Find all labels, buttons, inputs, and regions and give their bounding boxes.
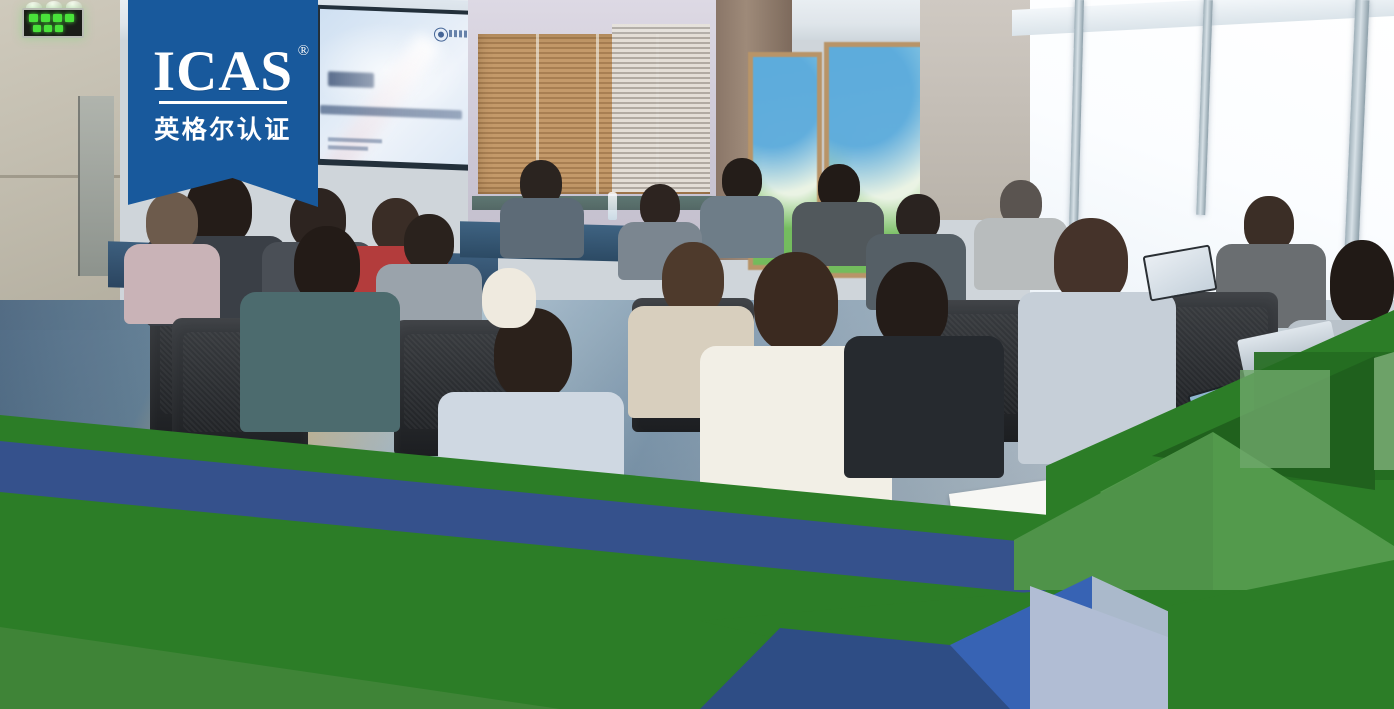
attendee-body bbox=[240, 292, 400, 432]
attendee-head bbox=[482, 268, 536, 328]
wooden-blinds-secondary bbox=[612, 24, 710, 192]
attendee-body bbox=[1018, 292, 1176, 464]
attendee-head bbox=[662, 242, 724, 316]
slide-subtitle-text bbox=[320, 105, 462, 119]
attendee-body bbox=[438, 392, 624, 544]
icas-chinese-name: 英格尔认证 bbox=[154, 110, 292, 146]
attendee-body bbox=[500, 198, 584, 258]
attendee-head bbox=[404, 214, 454, 270]
water-bottle bbox=[608, 192, 617, 220]
icas-logo-badge[interactable]: ICAS ® 英格尔认证 bbox=[128, 0, 318, 207]
icas-wordmark-text: ICAS bbox=[153, 40, 293, 103]
registered-trademark-icon: ® bbox=[298, 44, 310, 59]
banner-canvas: ICAS ® 英格尔认证 bbox=[0, 0, 1394, 709]
attendee-head bbox=[754, 252, 838, 352]
slide-logo-icon bbox=[434, 27, 468, 40]
emergency-exit-sign bbox=[22, 8, 84, 38]
icas-wordmark: ICAS ® bbox=[153, 46, 293, 98]
attendee-head bbox=[146, 192, 198, 252]
slide-title-text bbox=[328, 71, 374, 88]
projection-screen bbox=[320, 9, 480, 165]
attendee-body bbox=[844, 336, 1004, 478]
attendee-body bbox=[124, 244, 220, 324]
attendee-head bbox=[1330, 240, 1394, 326]
